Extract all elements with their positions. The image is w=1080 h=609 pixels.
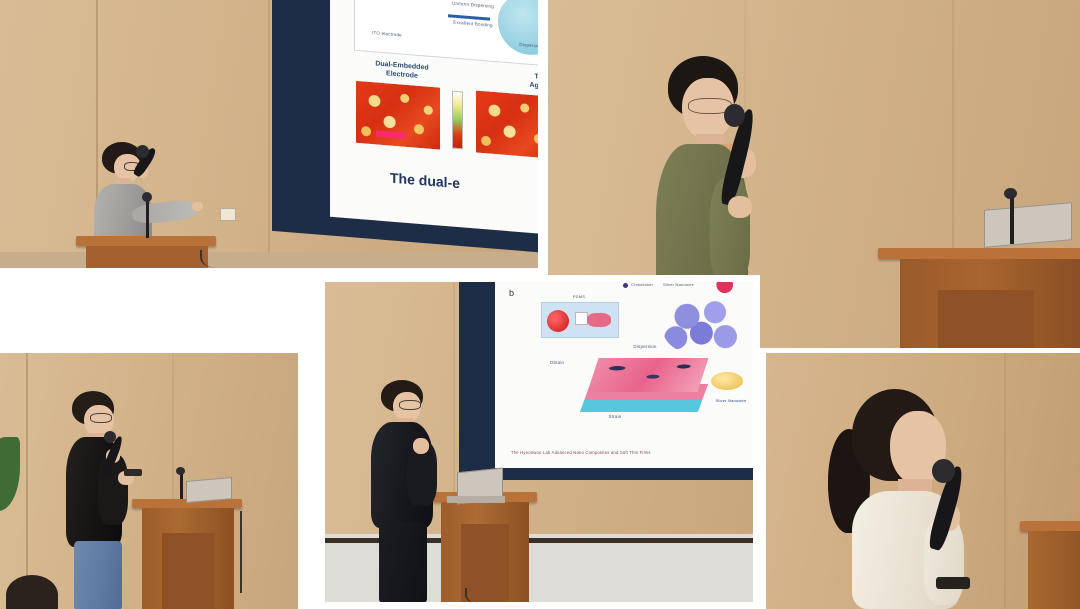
presenter-4-glasses xyxy=(90,413,112,423)
presenter-1-microphone-head xyxy=(136,145,149,158)
presenter-2-microphone-head xyxy=(724,104,745,127)
floor-cable xyxy=(465,588,503,602)
gold-electrode-pad xyxy=(711,372,743,390)
slide-label-silver-nanowire: Silver Nanowire xyxy=(663,282,694,287)
slide-panel-letter-b: b xyxy=(509,288,514,298)
slide-label-obtain: Obtain xyxy=(537,360,577,365)
nanoparticle-cluster xyxy=(663,296,743,354)
wall-seam xyxy=(26,353,28,609)
slide-label-dispersion: Dispersion xyxy=(621,344,669,349)
photo-collage: Coating Process Uniform Dispersing Excel… xyxy=(0,0,1080,609)
legend-swatch-crosslinker xyxy=(623,283,628,288)
photo-panel-top-left[interactable]: Coating Process Uniform Dispersing Excel… xyxy=(0,0,538,268)
gooseneck-microphone-head xyxy=(142,192,152,202)
presenter-4 xyxy=(64,391,180,609)
lectern-body xyxy=(86,246,208,268)
presenter-3-trousers xyxy=(379,522,427,602)
lectern-laptop-screen xyxy=(186,477,232,503)
gooseneck-microphone xyxy=(180,471,183,499)
slide-label-agnw: AgNW xyxy=(520,81,538,91)
presenter-3-hand xyxy=(413,438,429,454)
slide-label-crosslinker: Crosslinker xyxy=(631,282,653,287)
presenter-4-jeans xyxy=(74,541,122,609)
schematic-red-sphere xyxy=(547,310,569,332)
gooseneck-microphone-head xyxy=(1004,188,1017,199)
presenter-5-microphone-head xyxy=(932,459,955,483)
presenter-3-glasses xyxy=(399,400,421,410)
afm-micrograph-left xyxy=(356,81,440,150)
presentation-clicker xyxy=(936,577,970,589)
presenter-5 xyxy=(828,387,1018,609)
gooseneck-microphone xyxy=(146,196,149,238)
lectern-body xyxy=(1028,531,1080,609)
lectern-laptop-screen xyxy=(984,202,1072,248)
lectern-column xyxy=(938,290,1034,348)
presentation-clicker xyxy=(124,469,142,476)
projection-screen-surface: Coating Process Uniform Dispersing Excel… xyxy=(330,0,538,235)
projection-screen-surface: b Legend Crosslinker Silver Nanowire PDM… xyxy=(495,282,753,468)
nanowire-burst-icon xyxy=(713,282,739,298)
audience-member-head xyxy=(6,575,58,609)
slide-heading-dual-e: The dual-e xyxy=(390,170,460,192)
presenter-1-hand-extended xyxy=(192,202,203,211)
presenter-3 xyxy=(367,380,463,602)
presenter-2-hand-lower xyxy=(728,196,752,218)
photo-panel-bottom-left[interactable] xyxy=(0,353,298,609)
schematic-pink-tube xyxy=(587,313,611,327)
afm-micrograph-right xyxy=(476,90,538,159)
slide-footer-credit: The Hyeonwoo Lab Advanced Nano Composite… xyxy=(511,450,651,455)
presenter-4-microphone-head xyxy=(104,431,116,443)
slide-label-device-note: Silver Nanowire xyxy=(709,398,753,404)
lectern-top xyxy=(1020,521,1080,531)
wall-seam xyxy=(268,0,270,268)
photo-panel-center[interactable]: b Legend Crosslinker Silver Nanowire PDM… xyxy=(318,275,760,609)
lectern-top xyxy=(878,248,1080,259)
afm-color-scale-bar xyxy=(452,91,463,150)
photo-panel-bottom-right[interactable] xyxy=(766,353,1080,609)
wall-outlet xyxy=(220,208,236,221)
slide-inset-caption: PDMS xyxy=(541,294,617,299)
composite-film-top xyxy=(587,358,708,392)
gooseneck-microphone xyxy=(1010,192,1014,244)
slide-label-strain: Strain xyxy=(595,414,635,419)
